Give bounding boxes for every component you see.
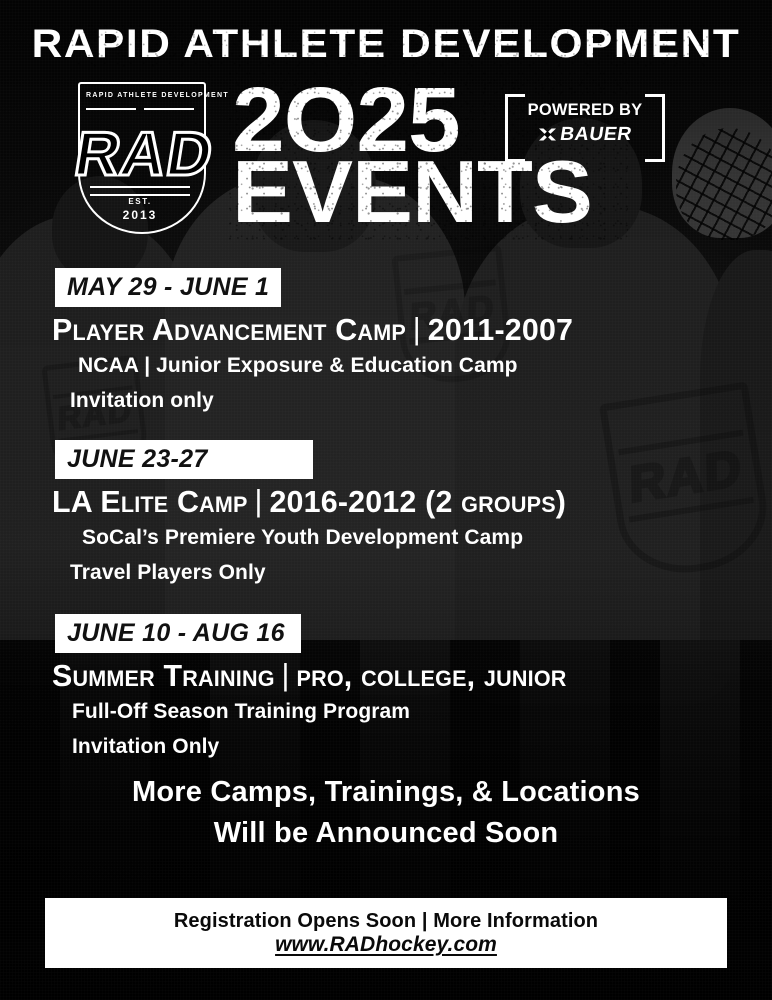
- event-subtitle-2: Invitation Only: [72, 733, 772, 762]
- event-detail: Pro, College, Junior: [296, 658, 566, 693]
- rad-logo: RAPID ATHLETE DEVELOPMENT RAD EST. 2013: [56, 78, 226, 236]
- logo-stripe: [86, 108, 136, 110]
- event-subtitle-1: Full-Off Season Training Program: [72, 698, 772, 727]
- event-detail: 2016-2012 (2 Groups): [269, 484, 566, 519]
- event-date-badge: MAY 29 - JUNE 1: [55, 268, 281, 307]
- event-date-badge: JUNE 23-27: [55, 440, 313, 479]
- logo-monogram: RAD: [54, 116, 234, 194]
- bauer-wordmark: BAUER: [559, 125, 633, 144]
- event-title: LA Elite Camp: [52, 484, 248, 519]
- announcement: More Camps, Trainings, & Locations Will …: [0, 772, 772, 854]
- logo-est-label: EST.: [86, 196, 194, 207]
- event-block-1: MAY 29 - JUNE 1 Player Advancement Camp|…: [0, 268, 772, 416]
- event-subtitle-1: SoCal’s Premiere Youth Development Camp: [82, 524, 772, 553]
- powered-by-label: POWERED BY: [507, 101, 662, 118]
- event-separator: |: [275, 658, 297, 691]
- powered-by-badge: POWERED BY BAUER: [505, 94, 665, 156]
- logo-est-year: 2013: [86, 208, 194, 222]
- event-title-row: Summer Training|Pro, College, Junior: [52, 659, 758, 692]
- logo-arc-text: RAPID ATHLETE DEVELOPMENT: [86, 92, 194, 99]
- event-separator: |: [406, 312, 428, 345]
- website-link[interactable]: www.RADhockey.com: [275, 934, 497, 955]
- event-title-row: LA Elite Camp|2016-2012 (2 Groups): [52, 485, 758, 518]
- bauer-logo: BAUER: [505, 125, 665, 144]
- brand-wordmark: RAPID ATHLETE DEVELOPMENT: [0, 24, 772, 64]
- announcement-line-2: Will be Announced Soon: [0, 813, 772, 854]
- event-detail: 2011-2007: [428, 312, 573, 347]
- poster-content: RAPID ATHLETE DEVELOPMENT RAPID ATHLETE …: [0, 0, 772, 1000]
- announcement-line-1: More Camps, Trainings, & Locations: [0, 772, 772, 813]
- event-poster: RAD RAD RAD RAPID ATHLETE DEVELOPMENT RA…: [0, 0, 772, 1000]
- logo-stripe: [144, 108, 194, 110]
- event-subtitle-2: Invitation only: [70, 387, 772, 416]
- footer-registration-text: Registration Opens Soon | More Informati…: [174, 911, 598, 931]
- footer-bar: Registration Opens Soon | More Informati…: [45, 898, 727, 968]
- hero-events: EVENTS: [232, 148, 592, 236]
- event-date-badge: JUNE 10 - AUG 16: [55, 614, 301, 653]
- event-separator: |: [248, 484, 270, 517]
- event-subtitle-2: Travel Players Only: [70, 559, 772, 588]
- event-title-row: Player Advancement Camp|2011-2007: [52, 313, 758, 346]
- event-title: Summer Training: [52, 658, 275, 693]
- event-subtitle-1: NCAA | Junior Exposure & Education Camp: [78, 352, 772, 381]
- event-title: Player Advancement Camp: [52, 312, 406, 347]
- event-block-3: JUNE 10 - AUG 16 Summer Training|Pro, Co…: [0, 614, 772, 762]
- event-block-2: JUNE 23-27 LA Elite Camp|2016-2012 (2 Gr…: [0, 440, 772, 588]
- bauer-x-icon: [539, 127, 556, 142]
